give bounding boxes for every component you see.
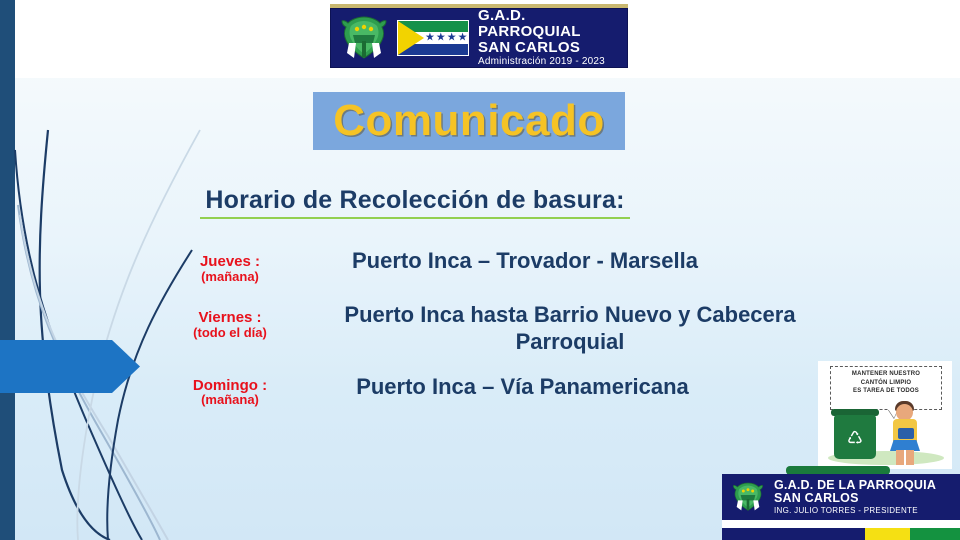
schedule-day-name: Viernes :	[150, 310, 310, 326]
subtitle-underline	[200, 217, 630, 219]
schedule-day-cell: Domingo : (mañana)	[150, 374, 310, 408]
schedule-day-cell: Viernes : (todo el día)	[150, 302, 310, 340]
trash-bin-icon: ♺	[834, 415, 876, 459]
schedule-day-time: (mañana)	[150, 270, 310, 284]
footer-coat-of-arms-icon	[730, 480, 766, 514]
footer-org-text: G.A.D. DE LA PARROQUIA SAN CARLOS ING. J…	[774, 479, 936, 516]
schedule-list: Jueves : (mañana) Puerto Inca – Trovador…	[150, 248, 890, 426]
header-org-line2: SAN CARLOS	[478, 40, 627, 56]
left-navy-bar	[0, 0, 15, 540]
stripe-navy	[722, 528, 865, 540]
header-logo-banner: ★★★★ G.A.D. PARROQUIAL SAN CARLOS Admini…	[330, 8, 628, 68]
stripe-green	[910, 528, 960, 540]
schedule-places: Puerto Inca – Trovador - Marsella	[310, 248, 890, 275]
subtitle-block: Horario de Recolección de basura:	[200, 186, 630, 219]
recycle-icon: ♺	[847, 429, 863, 447]
poster-line1: MANTENER NUESTRO	[831, 370, 941, 379]
poster-line2: CANTÓN LIMPIO	[831, 379, 941, 388]
person-legs	[896, 450, 914, 465]
page-title: Comunicado	[333, 96, 604, 146]
schedule-day-cell: Jueves : (mañana)	[150, 248, 310, 284]
footer-white-strip	[722, 520, 960, 528]
person-holding-item	[898, 428, 914, 439]
footer-org-line2: SAN CARLOS	[774, 492, 936, 506]
header-admin-period: Administración 2019 - 2023	[478, 57, 627, 68]
blue-arrow-accent	[0, 340, 140, 393]
stripe-yellow	[865, 528, 910, 540]
footer-org-line1: G.A.D. DE LA PARROQUIA	[774, 479, 936, 493]
cleanliness-poster-image: MANTENER NUESTRO CANTÓN LIMPIO ES TAREA …	[818, 361, 952, 469]
coat-of-arms-icon	[337, 13, 391, 63]
schedule-day-name: Domingo :	[150, 378, 310, 394]
schedule-row: Jueves : (mañana) Puerto Inca – Trovador…	[150, 248, 890, 284]
schedule-day-time: (todo el día)	[150, 326, 310, 340]
schedule-day-time: (mañana)	[150, 393, 310, 407]
header-org-line1: G.A.D. PARROQUIAL	[478, 8, 627, 40]
flag-stars: ★★★★	[425, 33, 468, 44]
footer-logo-banner: G.A.D. DE LA PARROQUIA SAN CARLOS ING. J…	[722, 474, 960, 520]
schedule-places: Puerto Inca hasta Barrio Nuevo y Cabecer…	[310, 302, 890, 356]
schedule-places: Puerto Inca – Vía Panamericana	[310, 374, 890, 401]
schedule-day-name: Jueves :	[150, 254, 310, 270]
comunicado-title-box: Comunicado	[313, 92, 625, 150]
subtitle-text: Horario de Recolección de basura:	[200, 186, 630, 215]
parish-flag-icon: ★★★★	[397, 20, 469, 56]
schedule-row: Viernes : (todo el día) Puerto Inca hast…	[150, 302, 890, 356]
slide-canvas: ★★★★ G.A.D. PARROQUIAL SAN CARLOS Admini…	[0, 0, 960, 540]
header-org-text: G.A.D. PARROQUIAL SAN CARLOS Administrac…	[478, 8, 627, 68]
poster-line3: ES TAREA DE TODOS	[831, 387, 941, 396]
schedule-row: Domingo : (mañana) Puerto Inca – Vía Pan…	[150, 374, 890, 408]
poster-speech-bubble: MANTENER NUESTRO CANTÓN LIMPIO ES TAREA …	[830, 366, 942, 410]
footer-president-name: ING. JULIO TORRES - PRESIDENTE	[774, 507, 936, 516]
footer-color-stripes	[722, 528, 960, 540]
